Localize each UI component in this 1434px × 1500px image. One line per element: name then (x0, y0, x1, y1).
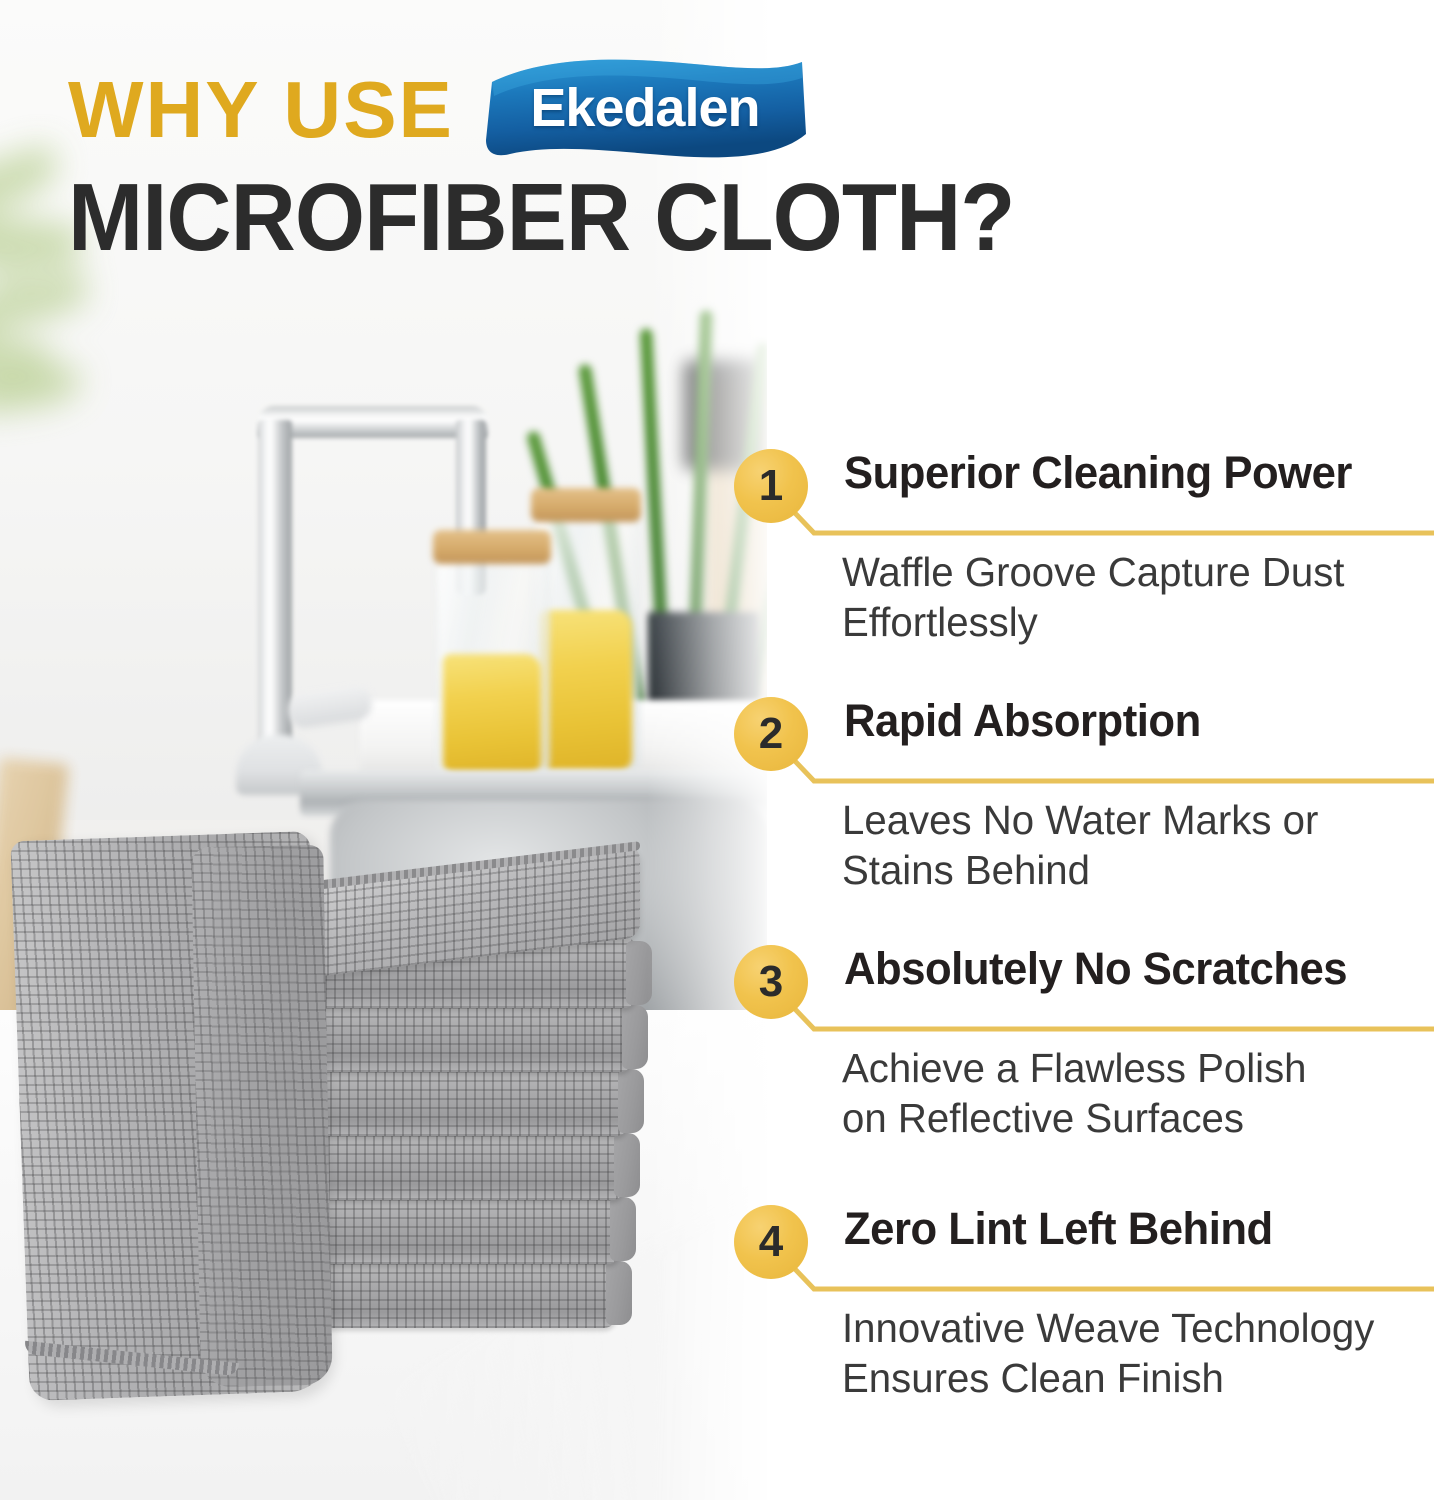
kicker-row: WHY USE Ekedalen (68, 62, 1398, 158)
feature-number-badge: 1 (734, 449, 808, 523)
connector-line-icon (770, 981, 1434, 1051)
kicker-text: WHY USE (68, 70, 454, 150)
draped-cloth-fold (191, 845, 332, 1387)
connector-line-icon (770, 485, 1434, 555)
page-title: MICROFIBER CLOTH? (68, 168, 1318, 268)
glass-jar-short (436, 530, 548, 778)
faucet-spout-horizontal (258, 406, 488, 438)
connector-line-icon (770, 1241, 1434, 1311)
feature-number-badge: 4 (734, 1205, 808, 1279)
faucet-column (258, 420, 292, 780)
feature-description: Achieve a Flawless Polish on Reflective … (842, 1043, 1434, 1143)
feature-number-badge: 2 (734, 697, 808, 771)
feature-description: Waffle Groove Capture Dust Effortlessly (842, 547, 1434, 647)
brand-logo: Ekedalen (480, 56, 810, 164)
microfiber-cloth-stack (286, 858, 651, 1328)
product-infographic: WHY USE Ekedalen MI (0, 0, 1434, 1500)
headline-block: WHY USE Ekedalen MI (68, 62, 1398, 268)
brand-name: Ekedalen (530, 77, 759, 143)
feature-description: Innovative Weave Technology Ensures Clea… (842, 1303, 1434, 1403)
feature-description: Leaves No Water Marks or Stains Behind (842, 795, 1434, 895)
feature-number-badge: 3 (734, 945, 808, 1019)
connector-line-icon (770, 733, 1434, 803)
